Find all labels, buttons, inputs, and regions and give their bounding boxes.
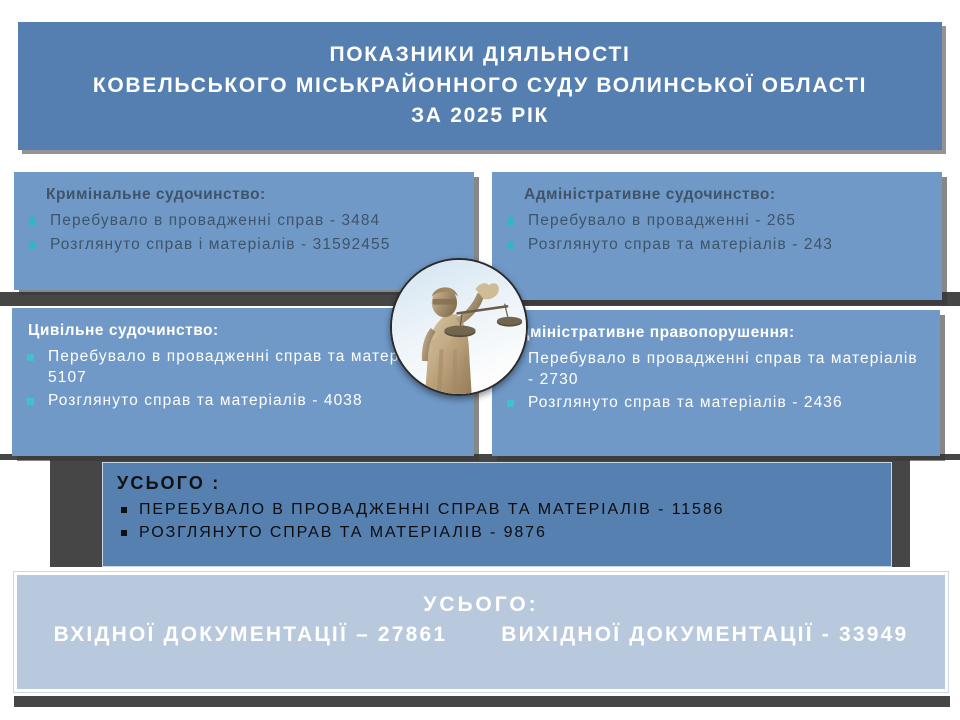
slide-title-box: ПОКАЗНИКИ ДІЯЛЬНОСТІ КОВЕЛЬСЬКОГО МІСЬКР… [18,22,942,150]
square-bullet-icon [507,242,514,249]
card-criminal-proceedings: Кримінальне судочинство: Перебувало в пр… [14,172,474,290]
documentation-row: ВХІДНОЇ ДОКУМЕНТАЦІЇ – 27861 ВИХІДНОЇ ДО… [54,623,909,647]
totals-item-list: ПЕРЕБУВАЛО В ПРОВАДЖЕННІ СПРАВ ТА МАТЕРІ… [117,499,879,544]
totals-title: УСЬОГО : [117,473,879,494]
list-item-label: Розглянуто справ та матеріалів - 2436 [528,394,843,411]
background-band-footer [14,696,950,707]
square-bullet-icon [29,218,36,225]
square-bullet-icon [27,398,34,405]
totals-box: УСЬОГО : ПЕРЕБУВАЛО В ПРОВАДЖЕННІ СПРАВ … [102,462,892,567]
card-administrative-proceedings: Адміністративне судочинство: Перебувало … [492,172,942,300]
list-item-label: ПЕРЕБУВАЛО В ПРОВАДЖЕННІ СПРАВ ТА МАТЕРІ… [139,501,724,518]
square-bullet-icon [29,242,36,249]
list-item: Розглянуто справ і матеріалів - 31592455 [24,235,460,256]
lady-justice-image [390,258,528,396]
list-item: Розглянуто справ та матеріалів - 2436 [502,393,926,414]
square-bullet-icon [121,507,127,513]
card-item-list: Перебувало в провадженні справ - 3484 Ро… [24,211,460,255]
square-bullet-icon [507,218,514,225]
slide: ПОКАЗНИКИ ДІЯЛЬНОСТІ КОВЕЛЬСЬКОГО МІСЬКР… [0,0,960,720]
documentation-title: УСЬОГО: [423,593,538,617]
list-item-label: Перебувало в провадженні справ - 3484 [50,212,380,229]
card-title: Кримінальне судочинство: [24,186,460,204]
incoming-documentation-label: ВХІДНОЇ ДОКУМЕНТАЦІЇ – 27861 [54,623,448,647]
list-item-label: Розглянуто справ та матеріалів - 243 [528,236,833,253]
card-administrative-offence: Адміністративне правопорушення: Перебува… [492,310,940,456]
list-item: Перебувало в провадженні справ - 3484 [24,211,460,232]
list-item-label: Перебувало в провадженні справ та матері… [48,348,449,386]
list-item: Розглянуто справ та матеріалів - 4038 [22,391,460,412]
square-bullet-icon [121,530,127,536]
square-bullet-icon [27,354,34,361]
list-item-label: Розглянуто справ і матеріалів - 31592455 [50,236,390,253]
card-item-list: Перебувало в провадженні - 265 Розглянут… [502,211,928,255]
card-title: Адміністративне правопорушення: [502,324,926,342]
list-item-label: Розглянуто справ та матеріалів - 4038 [48,392,363,409]
list-item: Перебувало в провадженні справ та матері… [502,349,926,390]
list-item: РОЗГЛЯНУТО СПРАВ ТА МАТЕРІАЛІВ - 9876 [117,522,879,543]
list-item: ПЕРЕБУВАЛО В ПРОВАДЖЕННІ СПРАВ ТА МАТЕРІ… [117,499,879,520]
list-item-label: Перебувало в провадженні - 265 [528,212,796,229]
square-bullet-icon [507,400,514,407]
page-title: ПОКАЗНИКИ ДІЯЛЬНОСТІ КОВЕЛЬСЬКОГО МІСЬКР… [79,40,881,131]
list-item: Розглянуто справ та матеріалів - 243 [502,235,928,256]
card-title: Адміністративне судочинство: [502,186,928,204]
documentation-totals-box: УСЬОГО: ВХІДНОЇ ДОКУМЕНТАЦІЇ – 27861 ВИХ… [14,572,948,692]
list-item: Перебувало в провадженні - 265 [502,211,928,232]
card-item-list: Перебувало в провадженні справ та матері… [502,349,926,414]
outgoing-documentation-label: ВИХІДНОЇ ДОКУМЕНТАЦІЇ - 33949 [501,623,908,647]
card-item-list: Перебувало в провадженні справ та матері… [22,347,460,412]
list-item-label: Перебувало в провадженні справ та матері… [528,350,918,388]
list-item-label: РОЗГЛЯНУТО СПРАВ ТА МАТЕРІАЛІВ - 9876 [139,524,547,541]
